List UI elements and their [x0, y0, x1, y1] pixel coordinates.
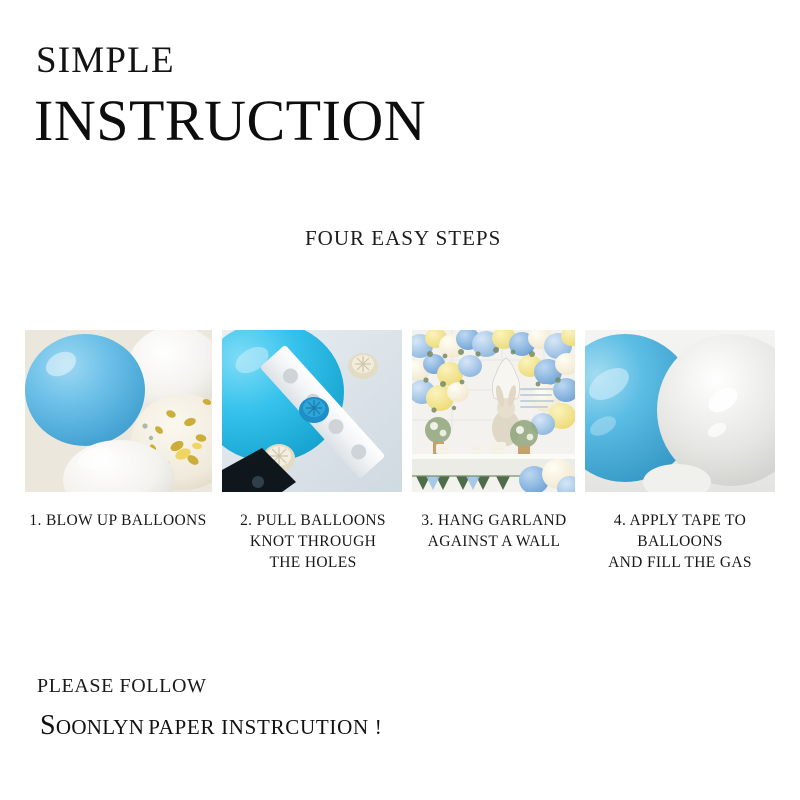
brand-tagline: PAPER INSTRCUTION ! [148, 715, 382, 739]
step-1-caption-line-1: 1. BLOW UP BALLOONS [18, 510, 218, 531]
step-1-image [25, 330, 212, 492]
eyebrow-heading: SIMPLE [36, 42, 175, 79]
step-3-caption: 3. HANG GARLAND AGAINST A WALL [408, 510, 580, 552]
step-4-image [585, 330, 775, 492]
step-2-image [222, 330, 402, 492]
brand-name: SOONLYN [40, 710, 144, 741]
brand-initial: S [40, 710, 56, 741]
step-2-caption-line-1: 2. PULL BALLOONS [222, 510, 404, 531]
footer-brand-line: SOONLYN PAPER INSTRCUTION ! [40, 712, 382, 740]
subtitle: FOUR EASY STEPS [305, 228, 501, 249]
footer-please-follow: PLEASE FOLLOW [37, 676, 206, 696]
step-3-caption-line-2: AGAINST A WALL [408, 531, 580, 552]
page-title: INSTRUCTION [34, 92, 426, 150]
step-2-caption-line-2: KNOT THROUGH [222, 531, 404, 552]
step-3-image [412, 330, 575, 492]
steps-image-strip [0, 330, 800, 492]
step-2-caption: 2. PULL BALLOONS KNOT THROUGH THE HOLES [222, 510, 404, 573]
step-4-caption-line-2: BALLOONS [580, 531, 780, 552]
brand-rest: OONLYN [56, 715, 144, 739]
step-2-caption-line-3: THE HOLES [222, 552, 404, 573]
step-1-caption: 1. BLOW UP BALLOONS [18, 510, 218, 531]
step-4-caption-line-1: 4. APPLY TAPE TO [580, 510, 780, 531]
step-3-caption-line-1: 3. HANG GARLAND [408, 510, 580, 531]
step-4-caption-line-3: AND FILL THE GAS [580, 552, 780, 573]
step-4-caption: 4. APPLY TAPE TO BALLOONS AND FILL THE G… [580, 510, 780, 573]
